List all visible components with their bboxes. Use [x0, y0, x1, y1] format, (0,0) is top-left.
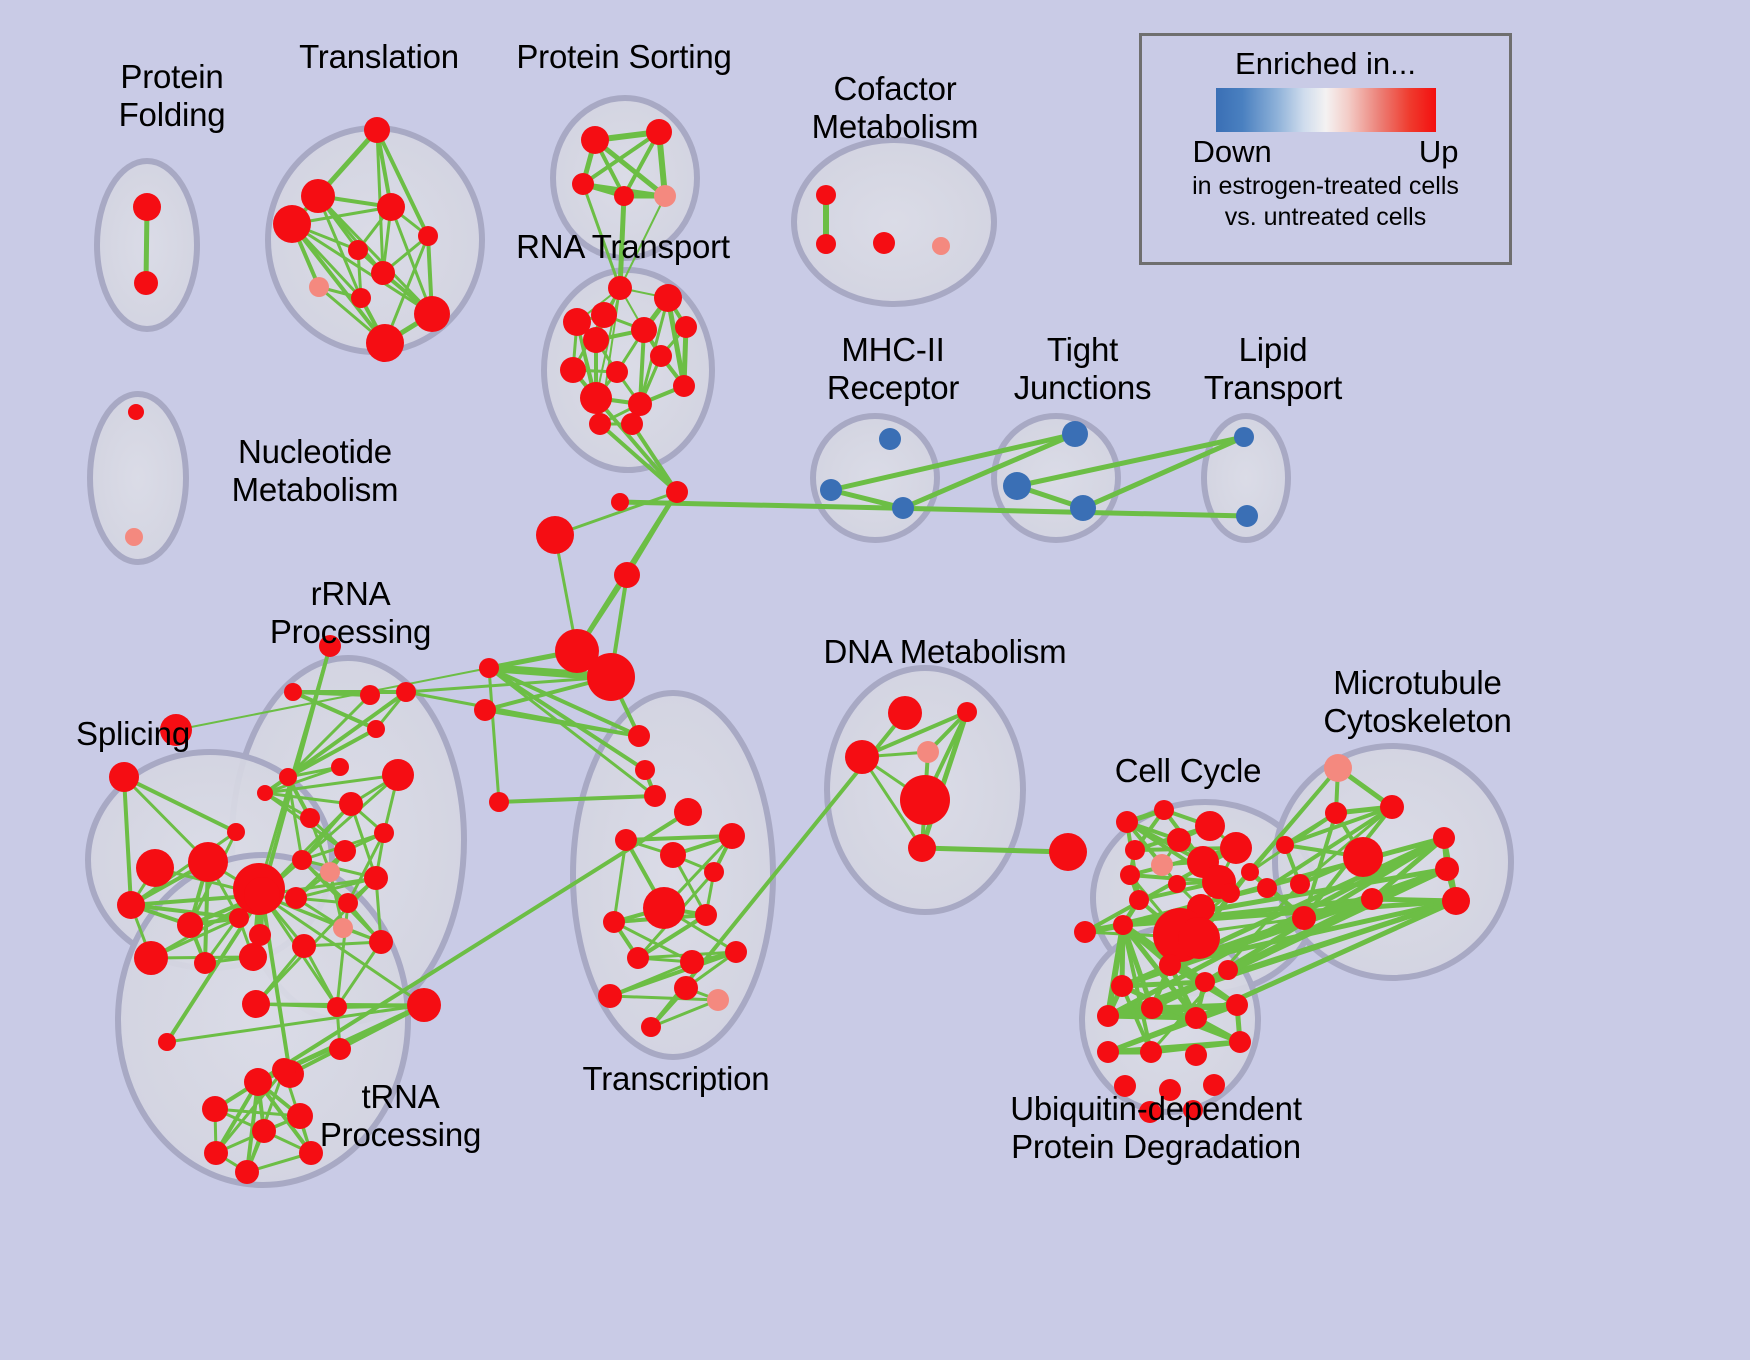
network-node[interactable]: [816, 234, 836, 254]
network-node[interactable]: [1290, 874, 1310, 894]
network-node[interactable]: [1097, 1041, 1119, 1063]
network-node[interactable]: [489, 792, 509, 812]
network-node[interactable]: [1178, 917, 1220, 959]
network-node[interactable]: [1113, 915, 1133, 935]
network-node[interactable]: [1380, 795, 1404, 819]
network-node[interactable]: [608, 276, 632, 300]
network-node[interactable]: [1324, 754, 1352, 782]
network-node[interactable]: [1159, 1079, 1181, 1101]
network-node[interactable]: [581, 126, 609, 154]
network-node[interactable]: [418, 226, 438, 246]
network-node[interactable]: [188, 842, 228, 882]
network-node[interactable]: [1129, 890, 1149, 910]
network-node[interactable]: [635, 760, 655, 780]
network-node[interactable]: [598, 984, 622, 1008]
network-node[interactable]: [587, 653, 635, 701]
network-node[interactable]: [1343, 837, 1383, 877]
network-node[interactable]: [560, 357, 586, 383]
network-node[interactable]: [242, 990, 270, 1018]
network-node[interactable]: [628, 392, 652, 416]
network-node[interactable]: [1141, 997, 1163, 1019]
network-node[interactable]: [957, 702, 977, 722]
network-node[interactable]: [329, 1038, 351, 1060]
network-node[interactable]: [136, 849, 174, 887]
network-node[interactable]: [244, 877, 280, 913]
network-node[interactable]: [319, 635, 341, 657]
network-node[interactable]: [285, 887, 307, 909]
network-node[interactable]: [680, 950, 704, 974]
network-node[interactable]: [1195, 972, 1215, 992]
network-node[interactable]: [1140, 1041, 1162, 1063]
legend-color-gradient-bar: [1216, 88, 1436, 132]
network-node[interactable]: [583, 327, 609, 353]
network-node[interactable]: [611, 493, 629, 511]
network-node[interactable]: [1276, 836, 1294, 854]
network-node[interactable]: [300, 808, 320, 828]
network-node[interactable]: [892, 497, 914, 519]
network-node[interactable]: [816, 185, 836, 205]
network-node[interactable]: [591, 302, 617, 328]
network-node[interactable]: [320, 862, 340, 882]
network-node[interactable]: [704, 862, 724, 882]
network-node[interactable]: [272, 1058, 296, 1082]
network-node[interactable]: [117, 891, 145, 919]
network-node[interactable]: [621, 413, 643, 435]
network-node[interactable]: [1154, 800, 1174, 820]
network-node[interactable]: [227, 823, 245, 841]
network-node[interactable]: [279, 768, 297, 786]
network-node[interactable]: [292, 850, 312, 870]
legend-label-down: Down: [1193, 134, 1272, 170]
network-node[interactable]: [1049, 833, 1087, 871]
network-node[interactable]: [1125, 840, 1145, 860]
network-node[interactable]: [666, 481, 688, 503]
network-node[interactable]: [125, 528, 143, 546]
network-node[interactable]: [627, 947, 649, 969]
network-node[interactable]: [1220, 883, 1240, 903]
network-node[interactable]: [309, 277, 329, 297]
network-node[interactable]: [367, 720, 385, 738]
network-node[interactable]: [1003, 472, 1031, 500]
network-node[interactable]: [879, 428, 901, 450]
network-node[interactable]: [628, 725, 650, 747]
network-node[interactable]: [1167, 828, 1191, 852]
network-node[interactable]: [202, 1096, 228, 1122]
enrichment-map-figure: Protein FoldingTranslationProtein Sortin…: [0, 0, 1750, 1360]
network-node[interactable]: [580, 382, 612, 414]
network-node[interactable]: [1097, 1005, 1119, 1027]
network-node[interactable]: [194, 952, 216, 974]
network-node[interactable]: [244, 1068, 272, 1096]
network-node[interactable]: [299, 1141, 323, 1165]
network-node[interactable]: [1442, 887, 1470, 915]
network-node[interactable]: [396, 682, 416, 702]
network-node[interactable]: [292, 934, 316, 958]
network-node[interactable]: [1435, 857, 1459, 881]
network-node[interactable]: [900, 775, 950, 825]
network-node[interactable]: [845, 740, 879, 774]
legend-title: Enriched in...: [1235, 47, 1416, 81]
network-node[interactable]: [1168, 875, 1186, 893]
network-node[interactable]: [301, 179, 335, 213]
network-node[interactable]: [888, 696, 922, 730]
network-node[interactable]: [134, 941, 168, 975]
network-node[interactable]: [1120, 865, 1140, 885]
network-node[interactable]: [695, 904, 717, 926]
network-node[interactable]: [407, 988, 441, 1022]
network-node[interactable]: [414, 296, 450, 332]
network-node[interactable]: [348, 240, 368, 260]
network-node[interactable]: [873, 232, 895, 254]
network-node[interactable]: [1070, 495, 1096, 521]
network-node[interactable]: [177, 912, 203, 938]
network-node[interactable]: [364, 866, 388, 890]
network-node[interactable]: [707, 989, 729, 1011]
network-node[interactable]: [160, 714, 192, 746]
network-node[interactable]: [614, 186, 634, 206]
network-node[interactable]: [606, 361, 628, 383]
network-node[interactable]: [109, 762, 139, 792]
network-node[interactable]: [1241, 863, 1259, 881]
network-node[interactable]: [1257, 878, 1277, 898]
network-node[interactable]: [917, 741, 939, 763]
network-node[interactable]: [377, 193, 405, 221]
network-node[interactable]: [327, 997, 347, 1017]
network-node[interactable]: [1062, 421, 1088, 447]
network-node[interactable]: [631, 317, 657, 343]
network-node[interactable]: [382, 759, 414, 791]
network-node[interactable]: [641, 1017, 661, 1037]
network-node[interactable]: [673, 375, 695, 397]
network-node[interactable]: [674, 798, 702, 826]
network-node[interactable]: [252, 1119, 276, 1143]
network-node[interactable]: [725, 941, 747, 963]
network-node[interactable]: [369, 930, 393, 954]
network-node[interactable]: [1218, 960, 1238, 980]
network-node[interactable]: [1116, 811, 1138, 833]
network-node[interactable]: [1203, 1074, 1225, 1096]
network-node[interactable]: [474, 699, 496, 721]
network-node[interactable]: [339, 792, 363, 816]
network-node[interactable]: [364, 117, 390, 143]
network-node[interactable]: [158, 1033, 176, 1051]
network-node[interactable]: [932, 237, 950, 255]
network-node[interactable]: [371, 261, 395, 285]
network-node[interactable]: [249, 924, 271, 946]
network-node[interactable]: [239, 943, 267, 971]
network-node[interactable]: [1226, 994, 1248, 1016]
network-node[interactable]: [1361, 888, 1383, 910]
network-node[interactable]: [908, 834, 936, 862]
network-node[interactable]: [536, 516, 574, 554]
network-node[interactable]: [719, 823, 745, 849]
network-node[interactable]: [654, 185, 676, 207]
network-node[interactable]: [643, 887, 685, 929]
network-node[interactable]: [284, 683, 302, 701]
network-node[interactable]: [1159, 954, 1181, 976]
network-node[interactable]: [235, 1160, 259, 1184]
network-node[interactable]: [366, 324, 404, 362]
network-node[interactable]: [589, 413, 611, 435]
network-node[interactable]: [615, 829, 637, 851]
network-node[interactable]: [1234, 427, 1254, 447]
network-node[interactable]: [338, 893, 358, 913]
network-node[interactable]: [133, 193, 161, 221]
network-node[interactable]: [1229, 1031, 1251, 1053]
network-node[interactable]: [351, 288, 371, 308]
network-node[interactable]: [820, 479, 842, 501]
network-node[interactable]: [334, 840, 356, 862]
network-node[interactable]: [331, 758, 349, 776]
network-node[interactable]: [674, 976, 698, 1000]
network-node[interactable]: [572, 173, 594, 195]
network-node[interactable]: [1074, 921, 1096, 943]
network-edge[interactable]: [489, 668, 499, 802]
network-node[interactable]: [1151, 854, 1173, 876]
network-node[interactable]: [360, 685, 380, 705]
network-node[interactable]: [1183, 1100, 1203, 1120]
legend-box: Enriched in... Down Up in estrogen-treat…: [1139, 33, 1512, 265]
network-node[interactable]: [128, 404, 144, 420]
network-node[interactable]: [1195, 811, 1225, 841]
network-node[interactable]: [654, 284, 682, 312]
network-node[interactable]: [1111, 975, 1133, 997]
network-node[interactable]: [1185, 1007, 1207, 1029]
network-node[interactable]: [374, 823, 394, 843]
network-node[interactable]: [660, 842, 686, 868]
network-node[interactable]: [333, 918, 353, 938]
network-node[interactable]: [1325, 802, 1347, 824]
network-node[interactable]: [1220, 832, 1252, 864]
network-node[interactable]: [479, 658, 499, 678]
network-node[interactable]: [603, 911, 625, 933]
legend-label-up: Up: [1419, 134, 1459, 170]
network-node[interactable]: [134, 271, 158, 295]
network-node[interactable]: [204, 1141, 228, 1165]
legend-caption-line-1: in estrogen-treated cells: [1192, 171, 1459, 201]
network-node[interactable]: [257, 785, 273, 801]
network-node[interactable]: [675, 316, 697, 338]
network-node[interactable]: [1433, 827, 1455, 849]
legend-caption-line-2: vs. untreated cells: [1225, 202, 1427, 232]
network-node[interactable]: [1139, 1101, 1161, 1123]
network-node[interactable]: [1236, 505, 1258, 527]
network-node[interactable]: [644, 785, 666, 807]
network-node[interactable]: [614, 562, 640, 588]
network-node[interactable]: [1114, 1075, 1136, 1097]
network-node[interactable]: [646, 119, 672, 145]
network-node[interactable]: [287, 1103, 313, 1129]
network-node[interactable]: [273, 205, 311, 243]
network-node[interactable]: [1185, 1044, 1207, 1066]
network-node[interactable]: [1292, 906, 1316, 930]
network-node[interactable]: [650, 345, 672, 367]
